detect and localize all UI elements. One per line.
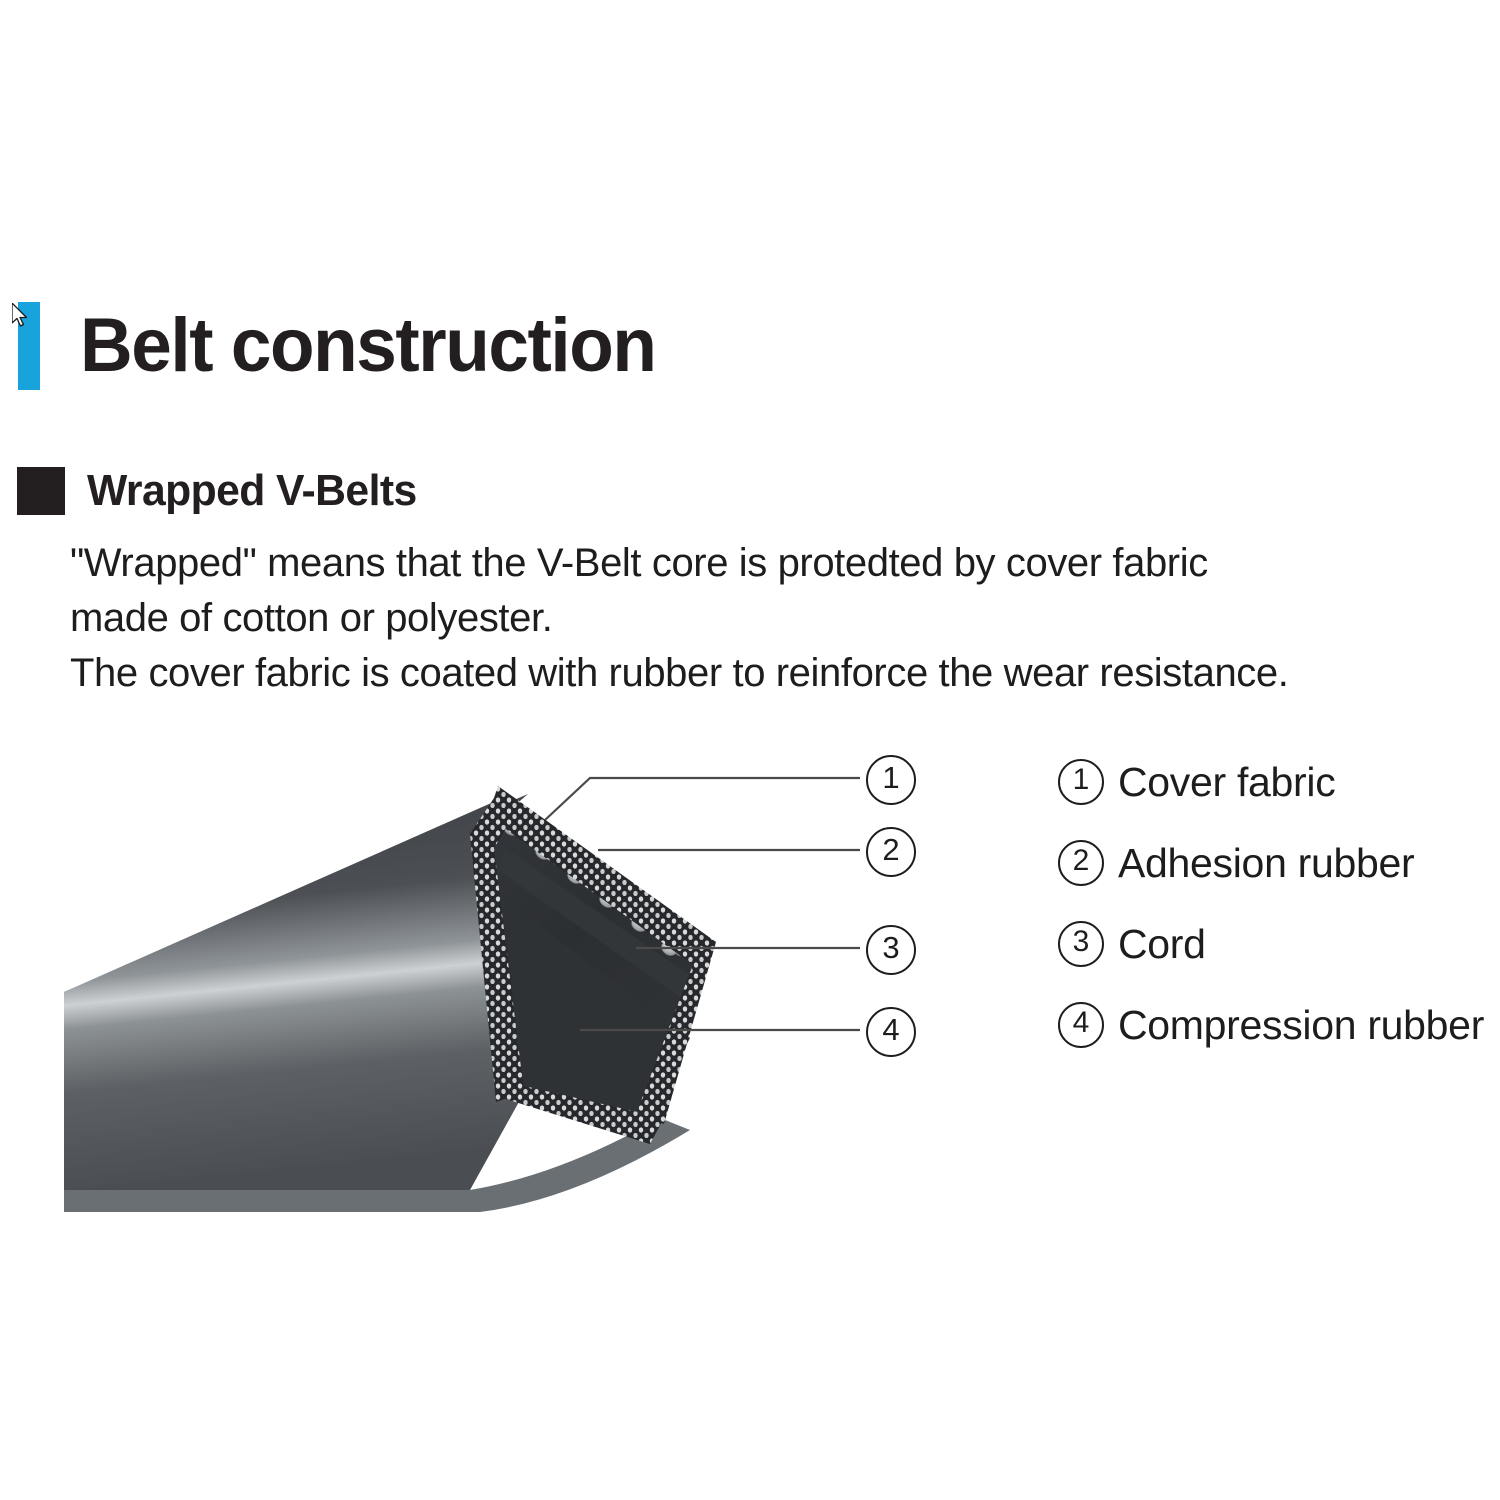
legend-item: 3 Cord [1058, 914, 1498, 974]
document-page: Belt construction Wrapped V-Belts "Wrapp… [0, 0, 1500, 1500]
callout-marker-2: 2 [866, 827, 916, 877]
section-heading: Wrapped V-Belts [87, 469, 417, 513]
section-heading-row: Wrapped V-Belts [17, 463, 427, 519]
figure-legend: 1 Cover fabric 2 Adhesion rubber 3 Cord … [1058, 752, 1498, 1076]
callout-marker-1: 1 [866, 755, 916, 805]
paragraph-line: The cover fabric is coated with rubber t… [70, 646, 1490, 701]
leader-line-1 [545, 778, 860, 820]
paragraph-line: made of cotton or polyester. [70, 591, 1490, 646]
belt-side-face [64, 800, 520, 1190]
legend-marker-4: 4 [1058, 1002, 1104, 1048]
legend-marker-1: 1 [1058, 759, 1104, 805]
mouse-cursor-icon [12, 303, 32, 331]
callout-marker-3: 3 [866, 925, 916, 975]
title-block: Belt construction [18, 300, 679, 392]
paragraph-line: "Wrapped" means that the V-Belt core is … [70, 536, 1490, 591]
legend-label-3: Cord [1118, 921, 1206, 968]
page-title: Belt construction [80, 308, 655, 384]
legend-marker-2: 2 [1058, 840, 1104, 886]
legend-marker-3: 3 [1058, 921, 1104, 967]
callout-marker-4: 4 [866, 1007, 916, 1057]
legend-item: 1 Cover fabric [1058, 752, 1498, 812]
legend-item: 2 Adhesion rubber [1058, 833, 1498, 893]
legend-label-1: Cover fabric [1118, 759, 1335, 806]
legend-label-2: Adhesion rubber [1118, 840, 1414, 887]
legend-item: 4 Compression rubber [1058, 995, 1498, 1055]
legend-label-4: Compression rubber [1118, 1002, 1484, 1049]
body-paragraph: "Wrapped" means that the V-Belt core is … [70, 536, 1490, 701]
square-bullet-icon [17, 467, 65, 515]
